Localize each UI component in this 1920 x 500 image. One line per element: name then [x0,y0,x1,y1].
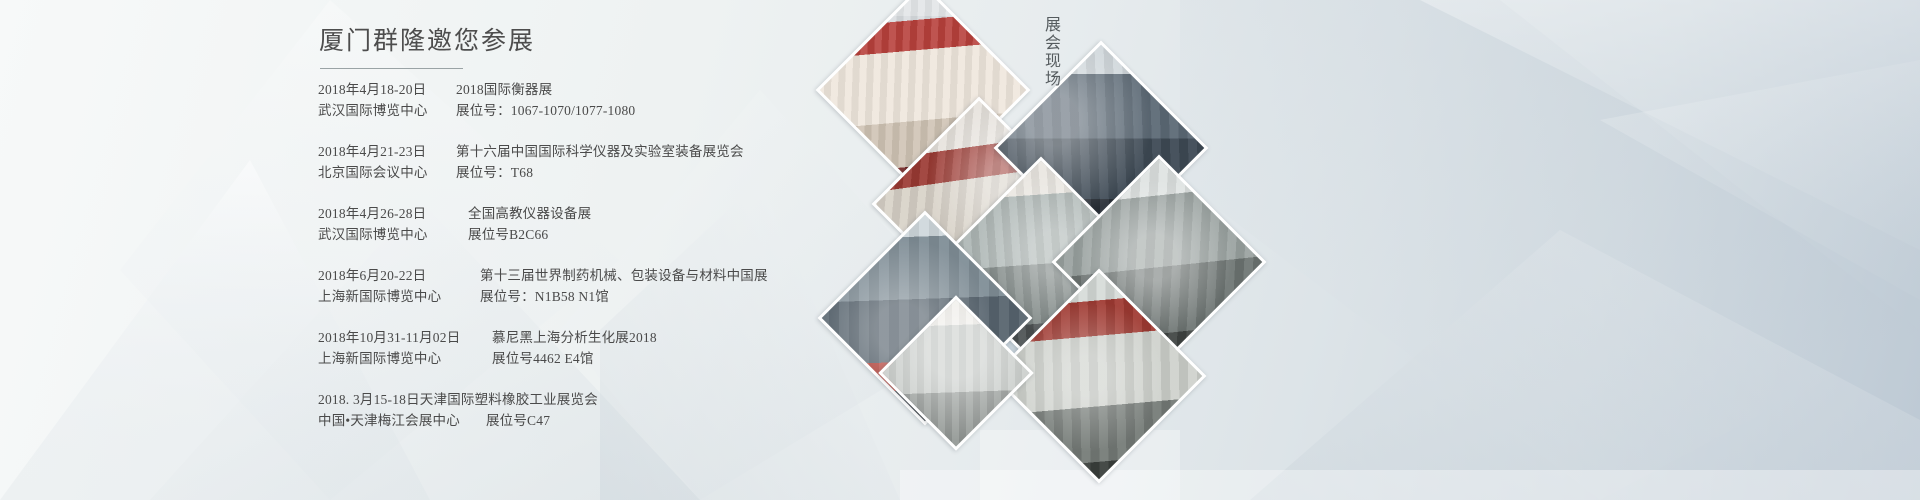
event-name: 慕尼黑上海分析生化展2018 [478,327,657,348]
event-row-secondary: 北京国际会议中心展位号：T68 [318,162,788,183]
collage-vertical-label: 展会现场 [1038,16,1064,88]
event-venue: 武汉国际博览中心 [318,100,442,121]
event-booth: 展位号C47 [460,410,550,431]
event-venue: 上海新国际博览中心 [318,348,478,369]
event-booth: 展位号：T68 [442,162,533,183]
event-date: 2018年6月20-22日 [318,265,466,286]
event-row-secondary: 武汉国际博览中心展位号B2C66 [318,224,788,245]
event-row-secondary: 中国•天津梅江会展中心展位号C47 [318,410,788,431]
event-venue: 中国•天津梅江会展中心 [318,410,460,431]
event-row-primary: 2018年4月26-28日全国高教仪器设备展 [318,203,788,224]
event-item: 2018年10月31-11月02日慕尼黑上海分析生化展2018 上海新国际博览中… [318,327,788,369]
event-date: 2018年10月31-11月02日 [318,327,478,348]
event-name: 2018国际衡器展 [442,79,552,100]
event-name: 全国高教仪器设备展 [454,203,591,224]
event-row-secondary: 武汉国际博览中心展位号：1067-1070/1077-1080 [318,100,788,121]
event-name: 第十六届中国国际科学仪器及实验室装备展览会 [442,141,744,162]
event-row-secondary: 上海新国际博览中心展位号：N1B58 N1馆 [318,286,788,307]
event-row-secondary: 上海新国际博览中心展位号4462 E4馆 [318,348,788,369]
exhibition-banner: 厦门群隆邀您参展 2018年4月18-20日2018国际衡器展 武汉国际博览中心… [0,0,1920,500]
photo-collage [835,0,1235,420]
event-date: 2018年4月26-28日 [318,203,454,224]
event-venue: 武汉国际博览中心 [318,224,454,245]
event-booth: 展位号：N1B58 N1馆 [466,286,609,307]
event-item: 2018. 3月15-18日天津国际塑料橡胶工业展览会 中国•天津梅江会展中心展… [318,389,788,431]
event-item: 2018年4月21-23日第十六届中国国际科学仪器及实验室装备展览会 北京国际会… [318,141,788,183]
event-row-primary: 2018年4月18-20日2018国际衡器展 [318,79,788,100]
event-row-primary: 2018年4月21-23日第十六届中国国际科学仪器及实验室装备展览会 [318,141,788,162]
event-list-panel: 厦门群隆邀您参展 2018年4月18-20日2018国际衡器展 武汉国际博览中心… [318,22,788,431]
event-item: 2018年4月26-28日全国高教仪器设备展 武汉国际博览中心展位号B2C66 [318,203,788,245]
event-name: 第十三届世界制药机械、包装设备与材料中国展 [466,265,768,286]
event-booth: 展位号B2C66 [454,224,548,245]
event-venue: 北京国际会议中心 [318,162,442,183]
event-row-primary: 2018年10月31-11月02日慕尼黑上海分析生化展2018 [318,327,788,348]
event-booth: 展位号：1067-1070/1077-1080 [442,100,635,121]
event-name: 2018. 3月15-18日天津国际塑料橡胶工业展览会 [318,389,598,410]
event-row-primary: 2018. 3月15-18日天津国际塑料橡胶工业展览会 [318,389,788,410]
event-item: 2018年4月18-20日2018国际衡器展 武汉国际博览中心展位号：1067-… [318,79,788,121]
event-booth: 展位号4462 E4馆 [478,348,594,369]
event-venue: 上海新国际博览中心 [318,286,466,307]
event-date: 2018年4月18-20日 [318,79,442,100]
event-date: 2018年4月21-23日 [318,141,442,162]
title-underline-rule [320,68,463,69]
page-title: 厦门群隆邀您参展 [318,22,788,62]
event-item: 2018年6月20-22日第十三届世界制药机械、包装设备与材料中国展 上海新国际… [318,265,788,307]
event-row-primary: 2018年6月20-22日第十三届世界制药机械、包装设备与材料中国展 [318,265,788,286]
